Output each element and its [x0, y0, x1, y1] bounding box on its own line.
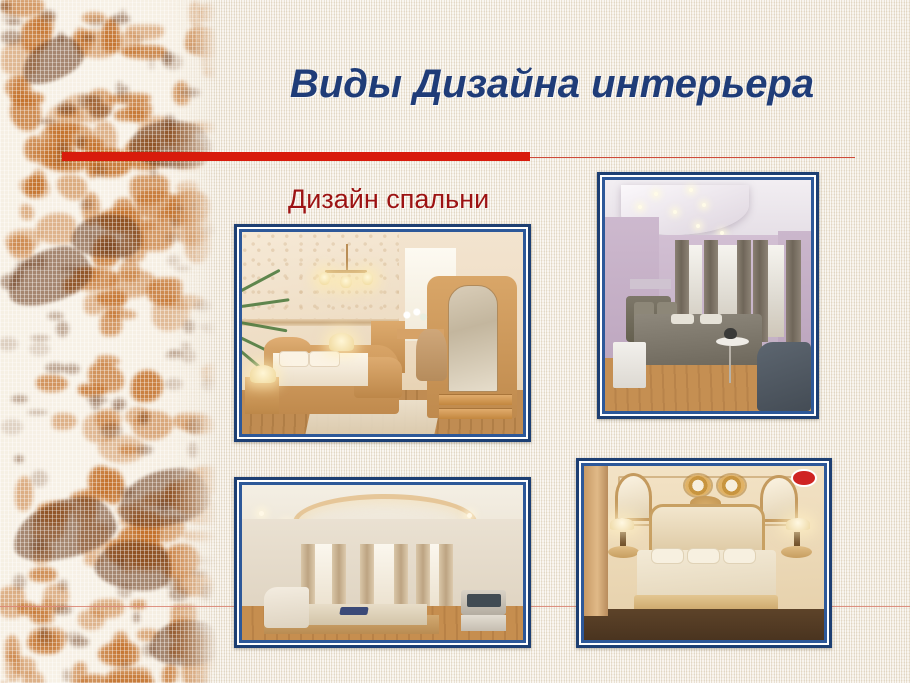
teapot [724, 328, 736, 340]
flower-vase [397, 305, 431, 325]
chair [416, 329, 447, 382]
side-table-leg [729, 346, 731, 383]
armchair [757, 342, 811, 411]
photo-frame-inner [239, 229, 526, 437]
pillow [651, 548, 684, 564]
lamp-base-right [794, 532, 800, 546]
tv-stand [461, 615, 506, 631]
pillow [309, 351, 339, 367]
curtain [332, 544, 346, 606]
photo-minimal-round-ceiling-bedroom[interactable] [234, 477, 531, 648]
scene-minimal-round-ceiling-bedroom [242, 485, 523, 640]
photo-modern-lilac-bedroom[interactable] [597, 172, 819, 419]
arch-mirror-left [615, 473, 652, 521]
pillow [671, 314, 694, 324]
pillow [700, 314, 723, 324]
curtain [786, 240, 800, 342]
photo-classic-wood-bedroom[interactable] [234, 224, 531, 442]
section-subtitle: Дизайн спальни [288, 184, 489, 215]
scene-modern-lilac-bedroom [605, 180, 811, 411]
panel-texture-grid [0, 0, 218, 683]
page-title: Виды Дизайна интерьера [246, 62, 858, 107]
sunburst-mirror-right [718, 475, 744, 496]
curtain [584, 466, 608, 616]
table-lamp-left [610, 518, 634, 530]
wardrobe-mirror [448, 285, 498, 392]
giraffe-print-border-panel [0, 0, 218, 683]
navy-cushion [340, 607, 369, 615]
scene-classic-wood-bedroom [242, 232, 523, 434]
curtain [416, 544, 430, 606]
sunburst-mirror-left [685, 475, 711, 496]
table-lamp-right [786, 518, 810, 530]
curtain [439, 544, 453, 606]
tv-screen [467, 594, 501, 608]
floor [584, 609, 824, 640]
curtain [360, 544, 374, 606]
wardrobe-drawer [439, 408, 512, 419]
photo-frame-inner [239, 482, 526, 643]
pillow [687, 548, 720, 564]
nightstand [613, 342, 646, 388]
photo-baroque-golden-bedroom[interactable] [576, 458, 832, 648]
divider-thick-bar [62, 152, 530, 161]
wardrobe-drawer [439, 394, 512, 405]
wall-shelf [630, 279, 671, 288]
table-lamp [329, 333, 354, 351]
pillow [723, 548, 756, 564]
chandelier [318, 244, 374, 297]
pillow [279, 351, 309, 367]
scene-baroque-golden-bedroom [584, 466, 824, 640]
slide-canvas: Виды Дизайна интерьера Дизайн спальни [0, 0, 910, 683]
photo-frame-inner [581, 463, 827, 643]
window [766, 245, 785, 337]
photo-frame-inner [602, 177, 814, 414]
table-lamp [250, 365, 275, 383]
bed-headrest [264, 587, 309, 627]
curtain [394, 544, 408, 606]
lamp-base-left [620, 532, 626, 546]
